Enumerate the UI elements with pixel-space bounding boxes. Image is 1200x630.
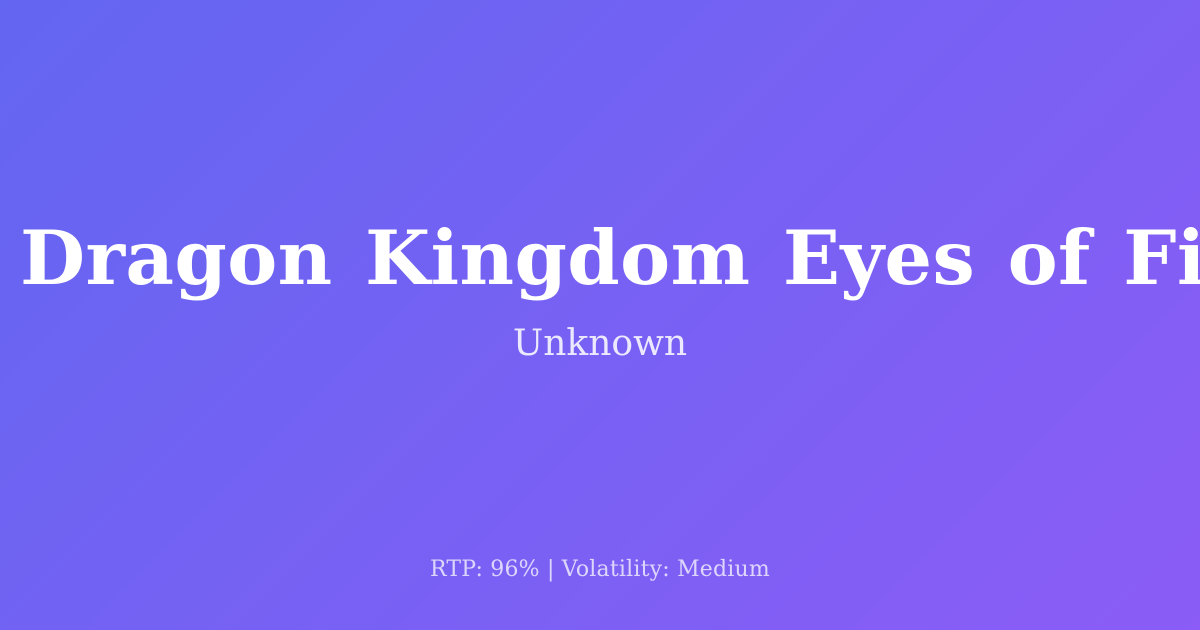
card-content-stack: Dragon Kingdom Eyes of Fire Unknown xyxy=(0,0,1200,630)
game-provider-subtitle: Unknown xyxy=(513,321,687,366)
page-title: Dragon Kingdom Eyes of Fire xyxy=(0,218,1200,299)
game-preview-card: Dragon Kingdom Eyes of Fire Unknown RTP:… xyxy=(0,0,1200,630)
